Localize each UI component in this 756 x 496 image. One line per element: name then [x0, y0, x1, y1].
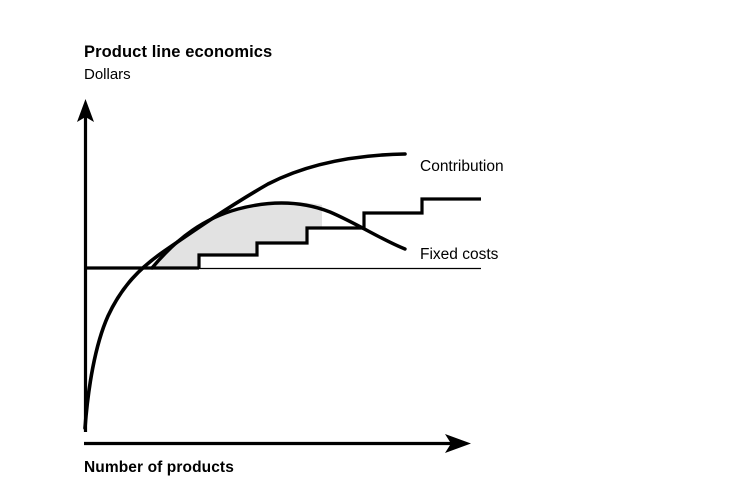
chart-container: Product line economics Dollars Number of…	[0, 0, 756, 496]
product-line-economics-chart: Product line economics Dollars Number of…	[0, 0, 756, 496]
x-axis-title: Number of products	[84, 459, 234, 476]
contribution-series-label: Contribution	[420, 158, 504, 175]
fixed-costs-series-label: Fixed costs	[420, 246, 499, 263]
chart-title: Product line economics	[84, 43, 272, 61]
chart-subtitle-dollars: Dollars	[84, 66, 131, 83]
